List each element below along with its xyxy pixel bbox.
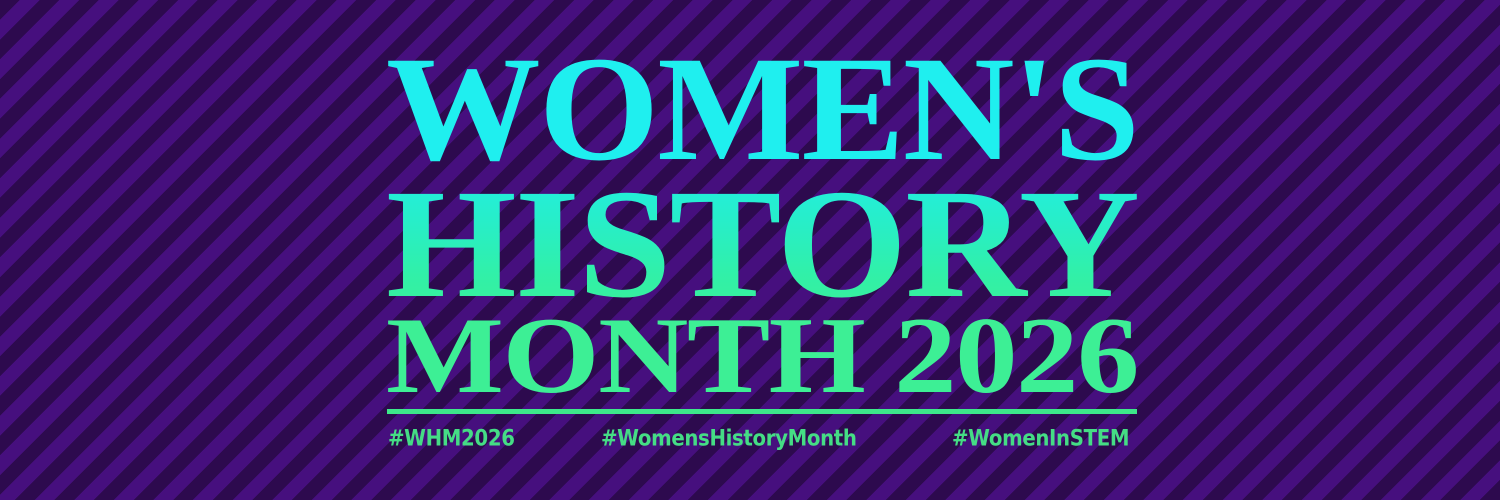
- hashtag-row: #WHM2026 #WomensHistoryMonth #WomenInSTE…: [388, 423, 1140, 453]
- headline-line-womens: WOMEN'S: [386, 34, 1138, 166]
- banner-text-block: WOMEN'S HISTORY MONTH 2026 #WHM2026 #Wom…: [386, 0, 1138, 500]
- headline-line-month-year-text: MONTH 2026: [386, 301, 1138, 410]
- womens-history-month-banner: WOMEN'S HISTORY MONTH 2026 #WHM2026 #Wom…: [0, 0, 1500, 500]
- headline-line-history: HISTORY: [386, 166, 1138, 300]
- hashtag-whm2026[interactable]: #WHM2026: [388, 425, 515, 450]
- headline-line-month-year: MONTH 2026: [386, 301, 1138, 399]
- divider-rule: [387, 409, 1137, 414]
- hashtag-womeninstem[interactable]: #WomenInSTEM: [952, 425, 1129, 450]
- hashtag-womenshistorymonth[interactable]: #WomensHistoryMonth: [601, 425, 857, 450]
